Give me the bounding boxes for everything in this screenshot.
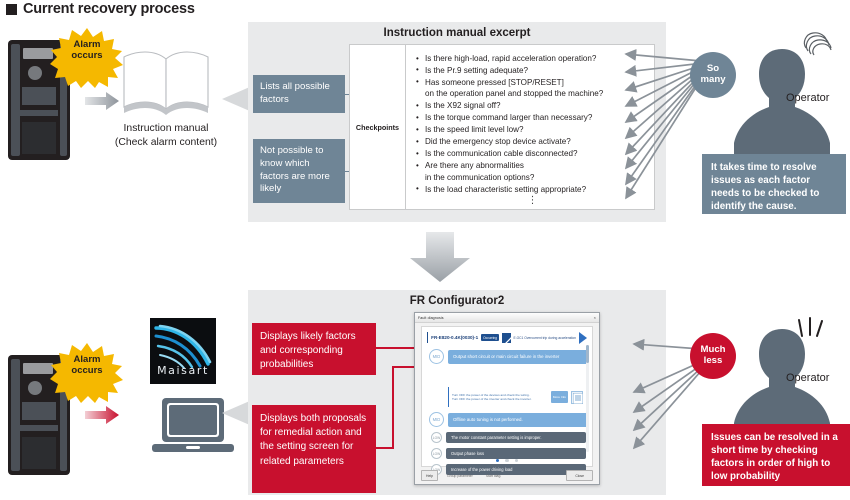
- pagination-dots[interactable]: [422, 459, 592, 463]
- cause-row[interactable]: MID Offline auto tuning is not performed…: [429, 412, 588, 427]
- group-parameter-button[interactable]: Group parameter: [443, 471, 477, 480]
- list-item: Has someone pressed [STOP/RESET]on the o…: [416, 77, 650, 100]
- dialog-header-row: FR-E820-0.4K(0030)-1 Occurring E.OC1 Ove…: [427, 331, 587, 344]
- checkpoints-header-cell: Checkpoints: [350, 45, 406, 209]
- header-accent-bar: [427, 332, 428, 343]
- operator-label-bottom: Operator: [786, 372, 829, 384]
- fault-diagnosis-dialog[interactable]: Fault diagnosis × FR-E820-0.4K(0030)-1 O…: [414, 312, 600, 485]
- red-connector-2b: [392, 366, 394, 449]
- cause-bar[interactable]: Output short circuit or main circuit fai…: [448, 350, 588, 364]
- dialog-canvas: FR-E820-0.4K(0030)-1 Occurring E.OC1 Ove…: [421, 326, 593, 467]
- dialog-titlebar[interactable]: Fault diagnosis ×: [415, 313, 599, 323]
- list-ellipsis: ⋮: [416, 197, 650, 205]
- idea-spark-icon: [796, 316, 826, 345]
- fr-configurator-panel: FR Configurator2 Displays likely factors…: [248, 290, 666, 495]
- instruction-manual-panel: Instruction manual excerpt Lists all pos…: [248, 22, 666, 222]
- callout-not-possible-to-know: Not possible to know which factors are m…: [253, 139, 345, 203]
- operator-silhouette-top: [726, 45, 838, 169]
- more-info-button[interactable]: More Info: [551, 391, 568, 403]
- cause-bar[interactable]: Output phase loss: [446, 448, 586, 459]
- alarm-burst-label: Alarm occurs: [50, 355, 124, 377]
- close-icon[interactable]: ×: [594, 315, 596, 320]
- probability-badge: LOW: [431, 448, 442, 459]
- alarm-name-label: E.OC1 Overcurrent trip during accelerati…: [514, 336, 577, 340]
- cause-row[interactable]: MID Output short circuit or main circuit…: [429, 349, 588, 364]
- statement-bottom: Issues can be resolved in a short time b…: [702, 424, 850, 486]
- document-icon[interactable]: [571, 391, 583, 404]
- scrollbar-thumb[interactable]: [586, 345, 589, 363]
- list-item: Is the communication cable disconnected?: [416, 148, 650, 159]
- flow-arrow-bottom: [85, 406, 119, 429]
- callout-displays-both-proposals: Displays both proposals for remedial act…: [252, 405, 376, 493]
- alarm-graphic-icon: [502, 333, 511, 343]
- start-diag-button[interactable]: Start diag.: [482, 471, 505, 480]
- dialog-scrollbar[interactable]: [586, 345, 589, 452]
- inverter-model-label: FR-E820-0.4K(0030)-1: [431, 335, 478, 340]
- maisart-logo: Maisart: [150, 318, 216, 384]
- cause-bar[interactable]: Offline auto tuning is not performed.: [448, 413, 588, 427]
- list-item: Is the Pr.9 setting adequate?: [416, 65, 650, 76]
- list-item: Is the torque command larger than necess…: [416, 112, 650, 123]
- page-title-text: Current recovery process: [23, 1, 195, 17]
- remedy-text: Turn OFF the power of the devices and ch…: [452, 393, 548, 401]
- thinking-scribble-icon: [800, 28, 834, 63]
- callout-lists-all-factors: Lists all possible factors: [253, 75, 345, 113]
- next-arrow-icon[interactable]: [579, 332, 587, 344]
- pager-dot-2[interactable]: [505, 459, 509, 463]
- checkpoints-table: Checkpoints Is there high-load, rapid ac…: [349, 44, 655, 210]
- pager-dot-1[interactable]: [496, 459, 500, 463]
- pager-dot-3[interactable]: [515, 459, 519, 463]
- status-badge: Occurring: [481, 334, 499, 341]
- page-title: Current recovery process: [6, 1, 195, 17]
- flow-arrow-down: [408, 232, 472, 282]
- list-item: Is the speed limit level low?: [416, 124, 650, 135]
- remedy-detail-box: Turn OFF the power of the devices and ch…: [448, 387, 583, 407]
- dialog-title: Fault diagnosis: [418, 316, 444, 320]
- help-button[interactable]: Help: [421, 470, 438, 481]
- operator-label-top: Operator: [786, 92, 829, 104]
- probability-badge: MID: [429, 412, 444, 427]
- close-button[interactable]: Close: [566, 470, 593, 481]
- callout-displays-likely-factors: Displays likely factors and correspondin…: [252, 323, 376, 375]
- list-item: Is the X92 signal off?: [416, 100, 650, 111]
- statement-top: It takes time to resolve issues as each …: [702, 154, 846, 214]
- alarm-burst-top: Alarm occurs: [50, 28, 124, 88]
- probability-badge: LOW: [431, 432, 442, 443]
- flow-arrow-top: [85, 92, 119, 115]
- dialog-footer: Help Group parameter Start diag. Close: [421, 470, 593, 481]
- list-item: Did the emergency stop device activate?: [416, 136, 650, 147]
- alarm-burst-bottom: Alarm occurs: [50, 343, 124, 403]
- maisart-label: Maisart: [150, 364, 216, 377]
- list-item: Is the load characteristic setting appro…: [416, 184, 650, 195]
- alarm-burst-label: Alarm occurs: [50, 40, 124, 62]
- book-caption: Instruction manual (Check alarm content): [100, 122, 232, 150]
- bullet-square-icon: [6, 4, 17, 15]
- list-item: Are there any abnormalitiesin the commun…: [416, 160, 650, 183]
- cause-row[interactable]: LOW Output phase loss: [431, 448, 586, 459]
- list-item: Is there high-load, rapid acceleration o…: [416, 53, 650, 64]
- cause-row[interactable]: LOW The motor constant parameter setting…: [431, 432, 586, 443]
- probability-badge: MID: [429, 349, 444, 364]
- panel-top-title: Instruction manual excerpt: [248, 27, 666, 39]
- cause-bar[interactable]: The motor constant parameter setting is …: [446, 432, 586, 443]
- panel-bottom-title: FR Configurator2: [248, 295, 666, 307]
- instruction-manual-book-icon: [116, 45, 216, 119]
